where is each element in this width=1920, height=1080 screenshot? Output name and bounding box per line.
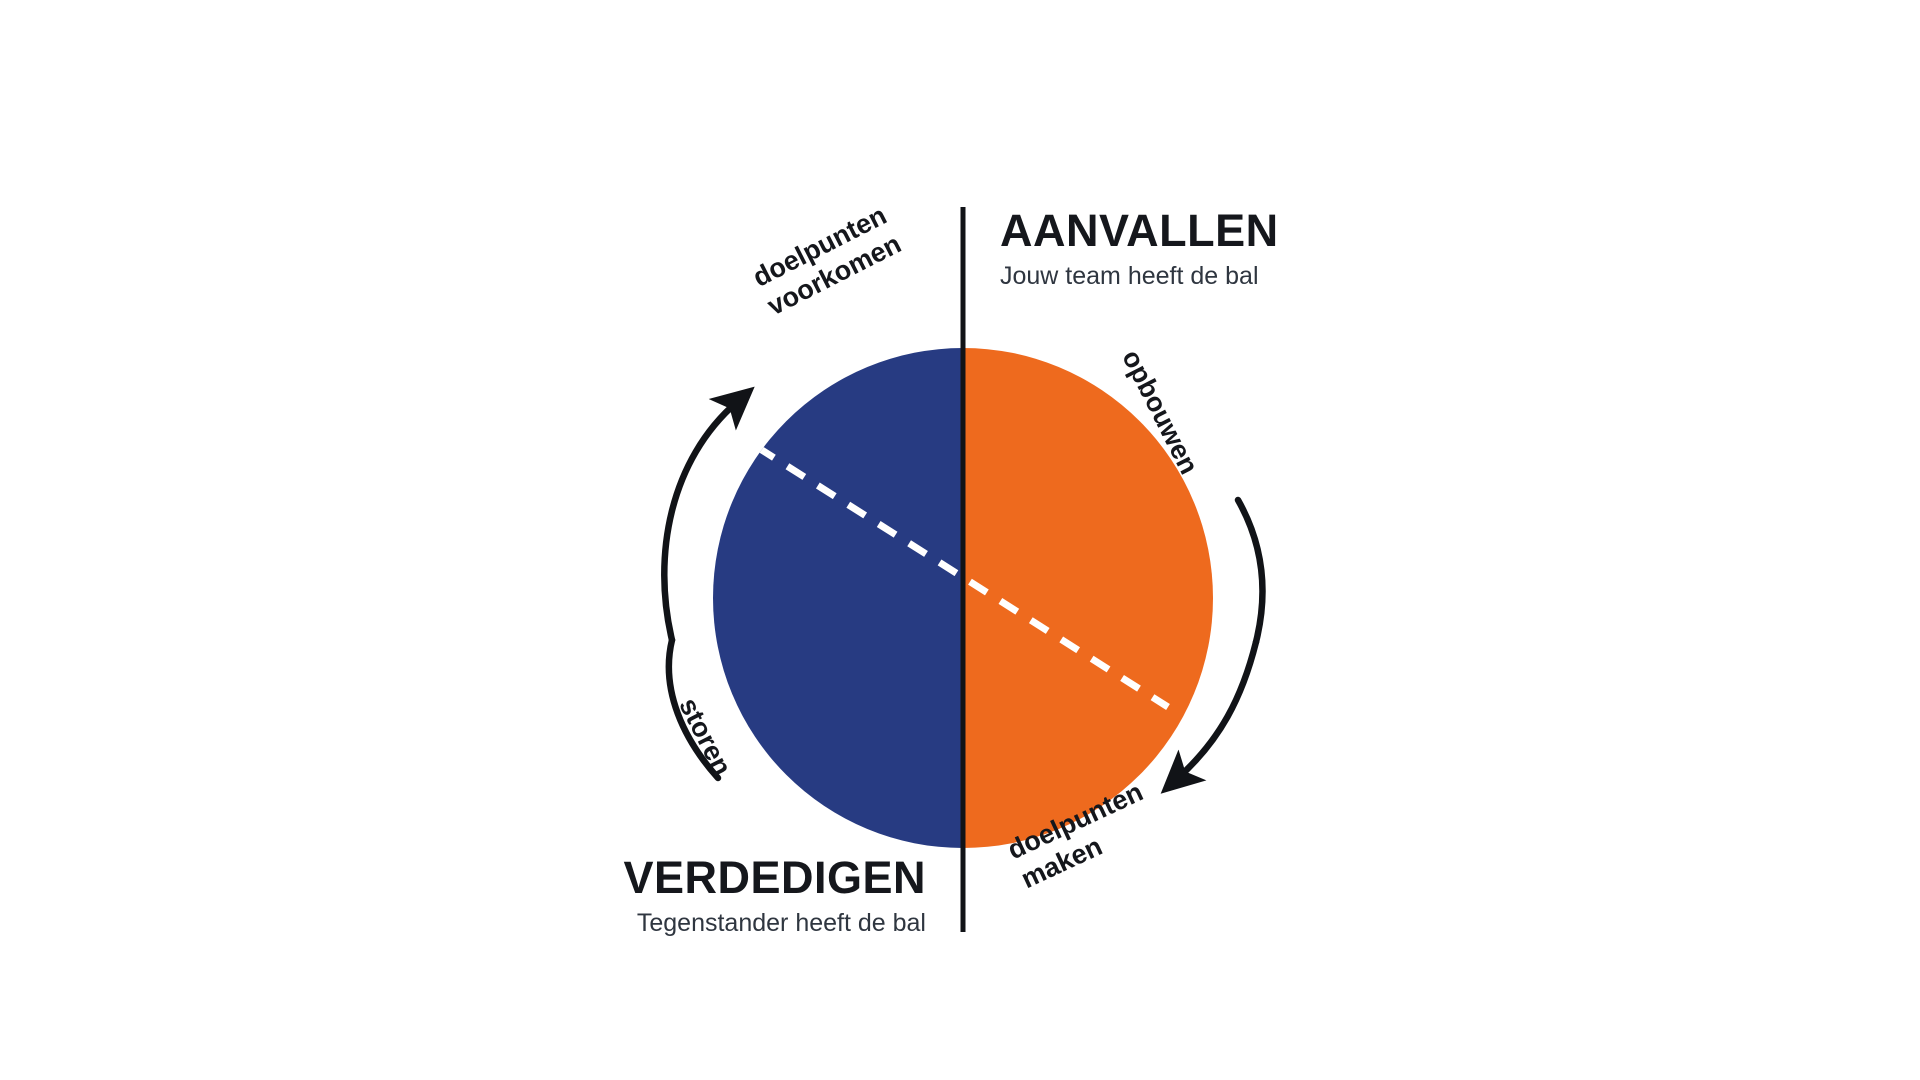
football-phases-diagram — [0, 0, 1920, 1080]
attacking-header: AANVALLEN Jouw team heeft de bal — [1000, 208, 1279, 289]
attacking-title: AANVALLEN — [1000, 208, 1279, 253]
diagram-canvas: AANVALLEN Jouw team heeft de bal VERDEDI… — [0, 0, 1920, 1080]
defending-header: VERDEDIGEN Tegenstander heeft de bal — [623, 855, 926, 936]
attacking-subtitle: Jouw team heeft de bal — [1000, 264, 1279, 289]
arc-arrow-tail-right-icon — [1238, 500, 1262, 642]
defending-subtitle: Tegenstander heeft de bal — [623, 911, 926, 936]
defending-title: VERDEDIGEN — [623, 855, 926, 900]
